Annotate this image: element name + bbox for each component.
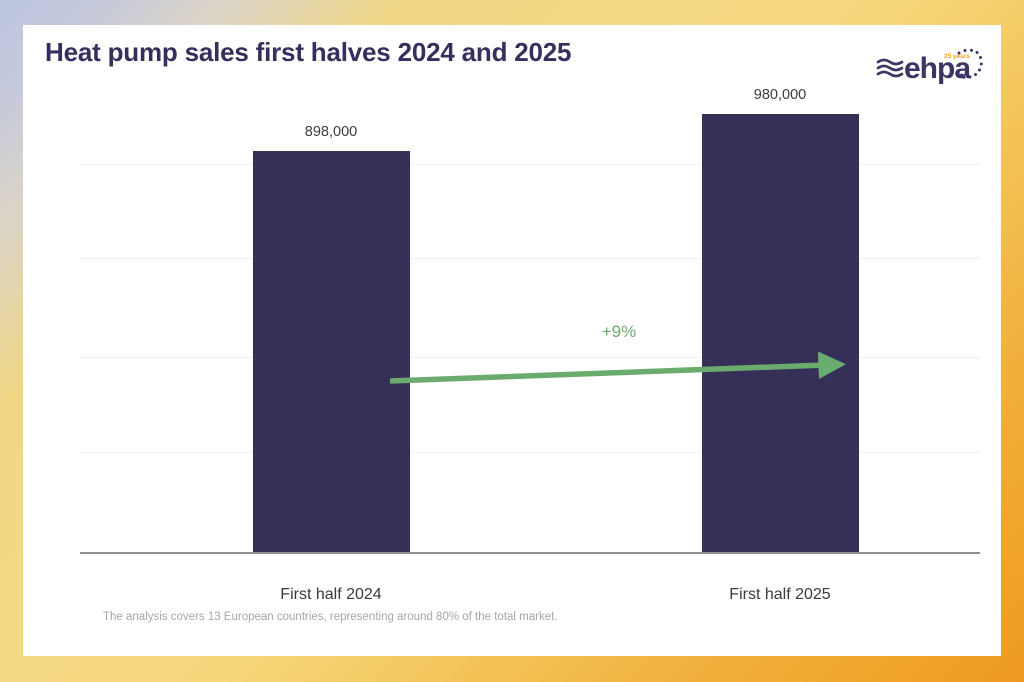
bar-first-half-2025[interactable] <box>702 114 859 553</box>
x-axis-line <box>80 552 980 554</box>
growth-percentage-label: +9% <box>564 322 674 342</box>
bar-first-half-2024[interactable] <box>253 151 410 553</box>
plot-area: 898,000 980,000 +9% First half 2024 Firs… <box>80 50 980 553</box>
x-axis-label-2024: First half 2024 <box>256 586 406 604</box>
chart-footnote: The analysis covers 13 European countrie… <box>103 611 558 623</box>
chart-card: Heat pump sales first halves 2024 and 20… <box>23 25 1001 656</box>
gradient-frame: Heat pump sales first halves 2024 and 20… <box>0 0 1024 682</box>
bar-value-label-2024: 898,000 <box>256 124 406 140</box>
x-axis-label-2025: First half 2025 <box>705 586 855 604</box>
bar-value-label-2025: 980,000 <box>705 87 855 103</box>
